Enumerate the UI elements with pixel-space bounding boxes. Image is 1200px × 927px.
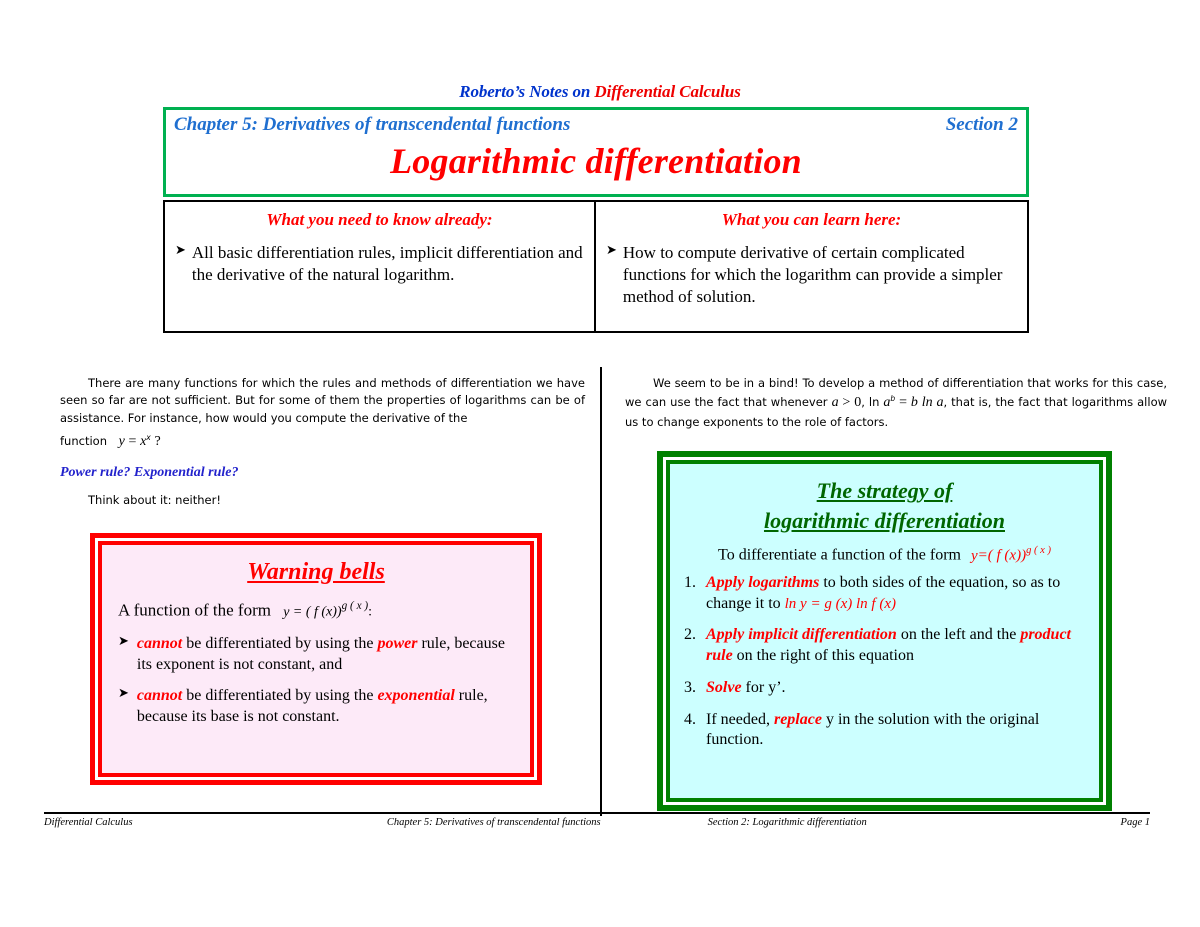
warning-bells-box: Warning bells A function of the form y =… [90, 533, 542, 785]
strategy-step: 2. Apply implicit differentiation on the… [684, 625, 1085, 667]
strategy-box: The strategy of logarithmic differentiat… [657, 451, 1112, 811]
strategy-step: 4. If needed, replace y in the solution … [684, 710, 1085, 752]
math-ln-a: ln a [918, 395, 944, 410]
column-divider [600, 367, 602, 816]
strategy-formula-equals: = [978, 548, 988, 564]
warning-formula-equals: = [294, 605, 302, 620]
strategy-lead-text: To differentiate a function of the form [718, 547, 961, 564]
footer: Differential Calculus Chapter 5: Derivat… [44, 817, 1150, 828]
strategy-step-emphasis: Solve [706, 679, 742, 696]
math-a: a [832, 395, 839, 410]
formula-y: y [119, 434, 125, 449]
strategy-step-formula: ln y = g (x) ln f (x) [785, 596, 896, 612]
math-greater-than-zero: > 0 [839, 395, 862, 410]
chapter-section-row: Chapter 5: Derivatives of transcendental… [166, 110, 1026, 136]
page-title: Logarithmic differentiation [166, 136, 1026, 194]
warning-item-text: cannot be differentiated by using the po… [137, 633, 514, 675]
prerequisites-objectives-table: What you need to know already: ➤ All bas… [163, 200, 1029, 333]
warning-item: ➤ cannot be differentiated by using the … [118, 685, 514, 727]
arrow-bullet-icon: ➤ [118, 633, 129, 675]
formula-exponent: x [146, 434, 151, 443]
masthead-red-text: Differential Calculus [594, 82, 740, 101]
footer-page-number: Page 1 [1017, 817, 1150, 828]
strategy-formula-exponent: g ( x ) [1026, 545, 1051, 556]
formula-question-mark: ? [154, 434, 160, 449]
arrow-bullet-icon: ➤ [606, 242, 617, 307]
rhetorical-question: Power rule? Exponential rule? [60, 462, 585, 483]
warning-emphasis-exponential: exponential [377, 687, 454, 704]
footer-rule [44, 812, 1150, 814]
strategy-step-number: 4. [684, 710, 706, 752]
footer-chapter: Chapter 5: Derivatives of transcendental… [387, 817, 708, 828]
warning-bells-title: Warning bells [118, 559, 514, 586]
warning-item-mid: be differentiated by using the [182, 687, 377, 704]
strategy-step-emphasis: Apply logarithms [706, 574, 819, 591]
left-formula-lead: function [60, 434, 107, 448]
strategy-step-emphasis: Apply implicit differentiation [706, 626, 897, 643]
strategy-title-line2: logarithmic differentiation [684, 506, 1085, 536]
objectives-cell: What you can learn here: ➤ How to comput… [596, 202, 1027, 331]
strategy-step-text: If needed, replace y in the solution wit… [706, 710, 1085, 752]
chapter-label: Chapter 5: Derivatives of transcendental… [174, 114, 570, 136]
warning-bells-inner: Warning bells A function of the form y =… [98, 541, 534, 777]
footer-section: Section 2: Logarithmic differentiation [708, 817, 1018, 828]
warning-formula-y: y [283, 605, 289, 620]
warning-lead-text: A function of the form [118, 601, 271, 620]
arrow-bullet-icon: ➤ [175, 242, 186, 286]
title-box: Chapter 5: Derivatives of transcendental… [163, 107, 1029, 197]
objectives-item: ➤ How to compute derivative of certain c… [606, 242, 1017, 307]
strategy-step-number: 2. [684, 625, 706, 667]
strategy-lead: To differentiate a function of the form … [684, 545, 1085, 564]
warning-formula-exponent: g ( x ) [342, 600, 368, 612]
objectives-heading: What you can learn here: [606, 210, 1017, 230]
strategy-step-pre: If needed, [706, 711, 774, 728]
arrow-bullet-icon: ➤ [118, 685, 129, 727]
warning-formula-base: ( f (x)) [306, 605, 342, 620]
warning-lead: A function of the form y = ( f (x))g ( x… [118, 600, 514, 621]
strategy-box-inner: The strategy of logarithmic differentiat… [666, 460, 1103, 802]
strategy-step-text: Apply implicit differentiation on the le… [706, 625, 1085, 667]
prerequisites-heading: What you need to know already: [175, 210, 584, 230]
strategy-step-text: Apply logarithms to both sides of the eq… [706, 573, 1085, 615]
strategy-formula-base: ( f (x)) [988, 548, 1026, 564]
formula-equals: = [129, 434, 137, 449]
strategy-step-body-2: on the right of this equation [733, 647, 914, 664]
strategy-title: The strategy of logarithmic differentiat… [684, 476, 1085, 535]
right-column: We seem to be in a bind! To develop a me… [625, 375, 1167, 431]
footer-subject: Differential Calculus [44, 817, 387, 828]
strategy-step-number: 3. [684, 678, 706, 699]
math-equals: = [895, 395, 911, 410]
masthead-blue-text: Roberto’s Notes on [459, 82, 594, 101]
strategy-formula-y: y [971, 548, 978, 564]
strategy-step: 1. Apply logarithms to both sides of the… [684, 573, 1085, 615]
right-paragraph-1b: , ln [861, 395, 883, 409]
strategy-step: 3. Solve for y’. [684, 678, 1085, 699]
strategy-step-body: on the left and the [897, 626, 1021, 643]
warning-item-mid: be differentiated by using the [182, 635, 377, 652]
left-paragraph-1: There are many functions for which the r… [60, 375, 585, 427]
warning-emphasis-power: power [377, 635, 417, 652]
math-b: b [911, 395, 918, 410]
warning-emphasis-cannot: cannot [137, 687, 182, 704]
right-paragraph-1: We seem to be in a bind! To develop a me… [625, 375, 1167, 431]
strategy-step-number: 1. [684, 573, 706, 615]
prerequisites-item: ➤ All basic differentiation rules, impli… [175, 242, 584, 286]
strategy-steps-list: 1. Apply logarithms to both sides of the… [684, 573, 1085, 752]
prerequisites-cell: What you need to know already: ➤ All bas… [165, 202, 596, 331]
warning-item: ➤ cannot be differentiated by using the … [118, 633, 514, 675]
warning-item-text: cannot be differentiated by using the ex… [137, 685, 514, 727]
left-formula-line: function y = xx ? [60, 431, 585, 452]
left-column: There are many functions for which the r… [60, 375, 585, 509]
section-label: Section 2 [946, 114, 1018, 136]
objectives-text: How to compute derivative of certain com… [623, 242, 1017, 307]
strategy-step-text: Solve for y’. [706, 678, 1085, 699]
warning-emphasis-cannot: cannot [137, 635, 182, 652]
left-paragraph-1-text: There are many functions for which the r… [60, 376, 585, 425]
strategy-step-emphasis: replace [774, 711, 822, 728]
strategy-step-body: for y’. [742, 679, 786, 696]
left-think-line: Think about it: neither! [60, 492, 585, 509]
strategy-title-line1: The strategy of [684, 476, 1085, 506]
prerequisites-text: All basic differentiation rules, implici… [192, 242, 584, 286]
warning-formula-colon: : [368, 605, 372, 620]
masthead: Roberto’s Notes on Differential Calculus [0, 82, 1200, 102]
